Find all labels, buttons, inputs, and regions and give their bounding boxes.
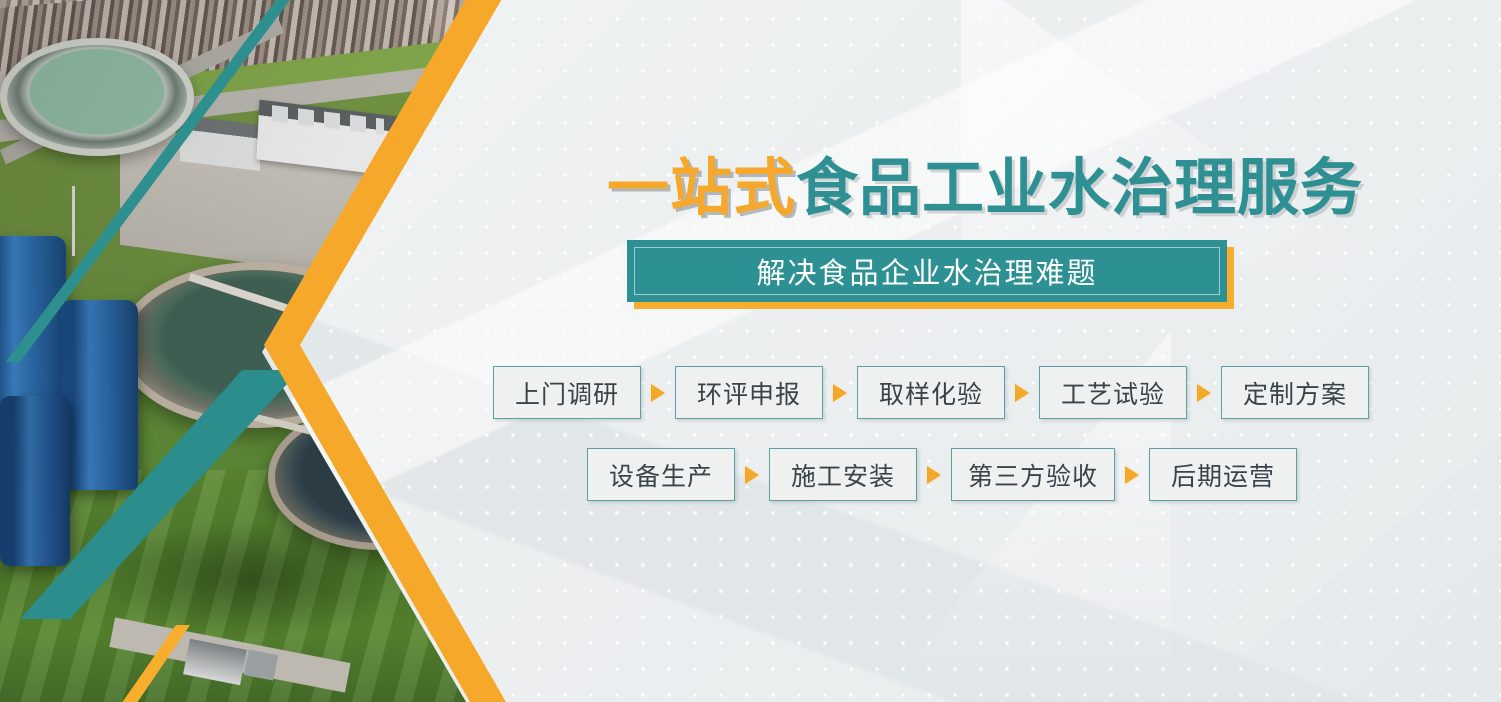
process-step-huanping-shenbao[interactable]: 环评申报: [675, 366, 823, 419]
triangle-right-icon: [823, 367, 857, 418]
subtitle-text: 解决食品企业水治理难题: [756, 250, 1097, 292]
process-step-disanfang-yanshou[interactable]: 第三方验收: [951, 448, 1115, 501]
process-step-gongyi-shiyan[interactable]: 工艺试验: [1039, 366, 1187, 419]
banner-content: 一站式食品工业水治理服务 解决食品企业水治理难题 上门调研 环评申报 取样化验 …: [0, 0, 1501, 702]
triangle-right-icon: [735, 449, 769, 500]
subtitle-bar-panel: 解决食品企业水治理难题: [627, 240, 1227, 302]
headline: 一站式食品工业水治理服务: [607, 158, 1363, 220]
process-step-shangmen-diaoyan[interactable]: 上门调研: [493, 366, 641, 419]
triangle-right-icon: [1187, 367, 1221, 418]
triangle-right-icon: [1005, 367, 1039, 418]
process-flow-row-2: 设备生产 施工安装 第三方验收 后期运营: [493, 448, 1423, 501]
process-flow: 上门调研 环评申报 取样化验 工艺试验 定制方案 设备生产 施工安装 第三方验收…: [493, 366, 1423, 530]
promo-banner: 一站式食品工业水治理服务 解决食品企业水治理难题 上门调研 环评申报 取样化验 …: [0, 0, 1501, 702]
process-flow-row-1: 上门调研 环评申报 取样化验 工艺试验 定制方案: [493, 366, 1423, 419]
process-step-houqi-yunying[interactable]: 后期运营: [1149, 448, 1297, 501]
triangle-right-icon: [917, 449, 951, 500]
triangle-right-icon: [641, 367, 675, 418]
process-step-shebei-shengchan[interactable]: 设备生产: [587, 448, 735, 501]
process-step-dingzhi-fangan[interactable]: 定制方案: [1221, 366, 1369, 419]
headline-rest: 食品工业水治理服务: [796, 154, 1363, 223]
triangle-right-icon: [1115, 449, 1149, 500]
process-step-shigong-anzhuang[interactable]: 施工安装: [769, 448, 917, 501]
process-step-quyang-huayan[interactable]: 取样化验: [857, 366, 1005, 419]
headline-highlight: 一站式: [607, 154, 796, 223]
subtitle-bar: 解决食品企业水治理难题: [627, 240, 1227, 302]
